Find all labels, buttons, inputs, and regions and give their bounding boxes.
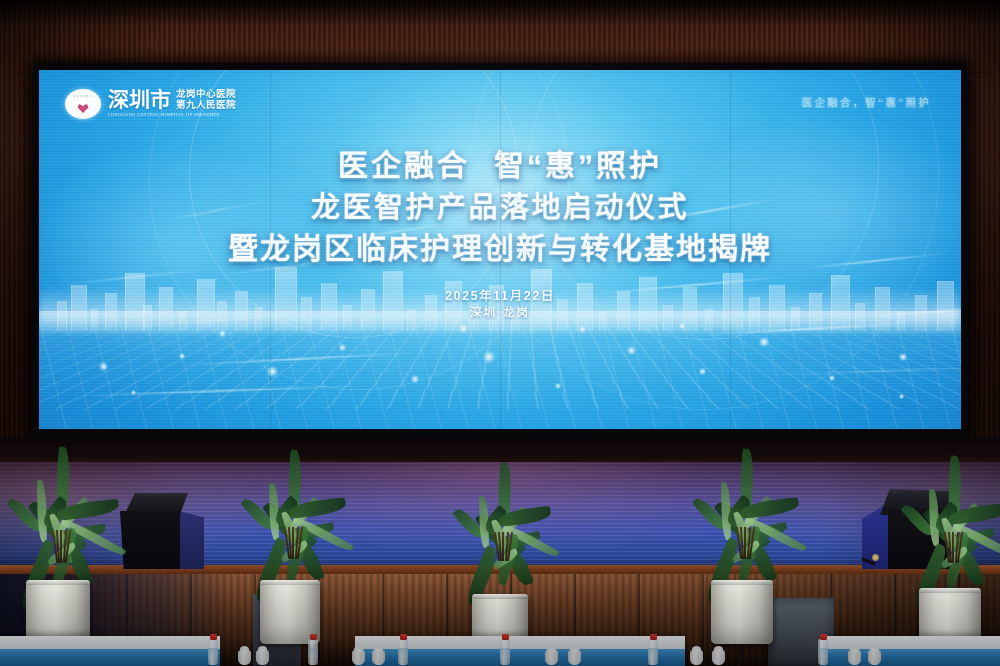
tea-cup: [868, 650, 881, 665]
ceiling-shadow: [0, 0, 1000, 26]
water-bottle: [500, 639, 510, 665]
led-screen: • • • • • • 深圳市 龙岗中心医院 第九人民医院 LONGGANG C…: [39, 70, 961, 429]
plant-stem: [60, 530, 62, 563]
speaker-front-grille: [120, 511, 180, 569]
tea-cup: [568, 650, 581, 665]
plant-foliage: [895, 500, 1000, 588]
water-bottle: [398, 639, 408, 665]
tea-cup: [238, 650, 251, 665]
bottle-cap: [400, 634, 407, 640]
bottle-label: [500, 648, 510, 657]
tea-cup: [690, 650, 703, 665]
speaker-connector-icon: [872, 554, 879, 561]
bottle-label: [398, 648, 408, 657]
conference-table: [0, 636, 220, 666]
plant-pot: [711, 580, 773, 644]
bottle-label: [818, 648, 828, 657]
plant-stem: [952, 532, 954, 563]
plant-stem: [502, 532, 504, 561]
auditorium-scene: • • • • • • 深圳市 龙岗中心医院 第九人民医院 LONGGANG C…: [0, 0, 1000, 666]
bottle-label: [308, 648, 318, 657]
led-panel-seam: [270, 70, 271, 429]
plant-stem: [744, 527, 746, 559]
pot-rim: [711, 580, 773, 585]
potted-plant: [3, 496, 113, 646]
potted-plant: [235, 494, 345, 644]
bottle-cap: [310, 634, 317, 640]
potted-plant: [445, 502, 555, 652]
plant-foliage: [687, 494, 797, 580]
bottle-label: [208, 648, 218, 657]
speaker-side-panel: [176, 509, 204, 569]
table-top: [0, 636, 220, 649]
led-panel-seam: [730, 70, 731, 429]
stage-monitor-speaker-left: [120, 493, 204, 569]
plant-foliage: [3, 496, 113, 580]
tea-cup: [372, 650, 385, 665]
conference-table: [820, 636, 1000, 666]
bottle-cap: [820, 634, 827, 640]
table-top: [820, 636, 1000, 649]
water-bottle: [308, 639, 318, 665]
water-bottle: [208, 639, 218, 665]
tea-cup: [256, 650, 269, 665]
pot-rim: [26, 580, 90, 585]
bottle-cap: [502, 634, 509, 640]
pot-rim: [919, 588, 981, 593]
bottle-cap: [650, 634, 657, 640]
water-bottle: [818, 639, 828, 665]
potted-plant: [895, 500, 1000, 650]
bottle-label: [648, 648, 658, 657]
tea-cup: [352, 650, 365, 665]
bottle-cap: [210, 634, 217, 640]
front-row-tables: [0, 636, 1000, 666]
pot-rim: [472, 594, 528, 599]
pot-rim: [260, 580, 320, 585]
water-bottle: [648, 639, 658, 665]
plant-stem: [292, 527, 294, 559]
potted-plant: [687, 494, 797, 644]
tea-cup: [712, 650, 725, 665]
plant-foliage: [445, 502, 555, 594]
plant-foliage: [235, 494, 345, 580]
led-panel-seam: [500, 70, 501, 429]
tea-cup: [545, 650, 558, 665]
tea-cup: [848, 650, 861, 665]
